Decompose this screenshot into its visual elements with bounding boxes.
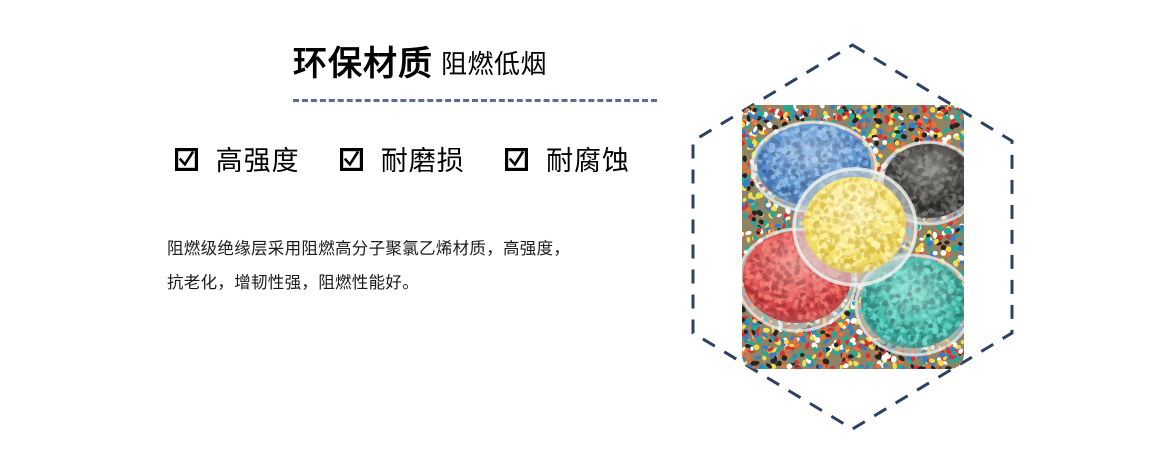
feature-label: 耐磨损	[381, 148, 465, 175]
heading-group: 环保材质阻燃低烟	[293, 47, 547, 81]
checked-box-icon	[175, 148, 198, 171]
page-subtitle: 阻燃低烟	[441, 50, 547, 80]
plastic-granules-photo	[742, 105, 964, 369]
description-line-1: 阻燃级绝缘层采用阻燃高分子聚氯乙烯材质，高强度，	[167, 232, 667, 266]
checked-box-icon	[340, 148, 363, 171]
feature-item-strength: 高强度	[175, 148, 300, 175]
text-column: 环保材质阻燃低烟 高强度	[0, 0, 690, 452]
promo-banner: 环保材质阻燃低烟 高强度	[0, 0, 1169, 452]
feature-label: 高强度	[216, 148, 300, 175]
description-line-2: 抗老化，增韧性强，阻燃性能好。	[167, 266, 667, 300]
feature-label: 耐腐蚀	[546, 148, 630, 175]
feature-item-wear-resistance: 耐磨损	[340, 148, 465, 175]
heading-divider	[293, 99, 657, 102]
description-paragraph: 阻燃级绝缘层采用阻燃高分子聚氯乙烯材质，高强度， 抗老化，增韧性强，阻燃性能好。	[167, 232, 667, 300]
checked-box-icon	[505, 148, 528, 171]
hexagon-photo-block	[690, 43, 1015, 431]
feature-list: 高强度 耐磨损 耐腐蚀	[175, 148, 630, 175]
page-title: 环保材质	[293, 44, 433, 84]
feature-item-corrosion-resistance: 耐腐蚀	[505, 148, 630, 175]
